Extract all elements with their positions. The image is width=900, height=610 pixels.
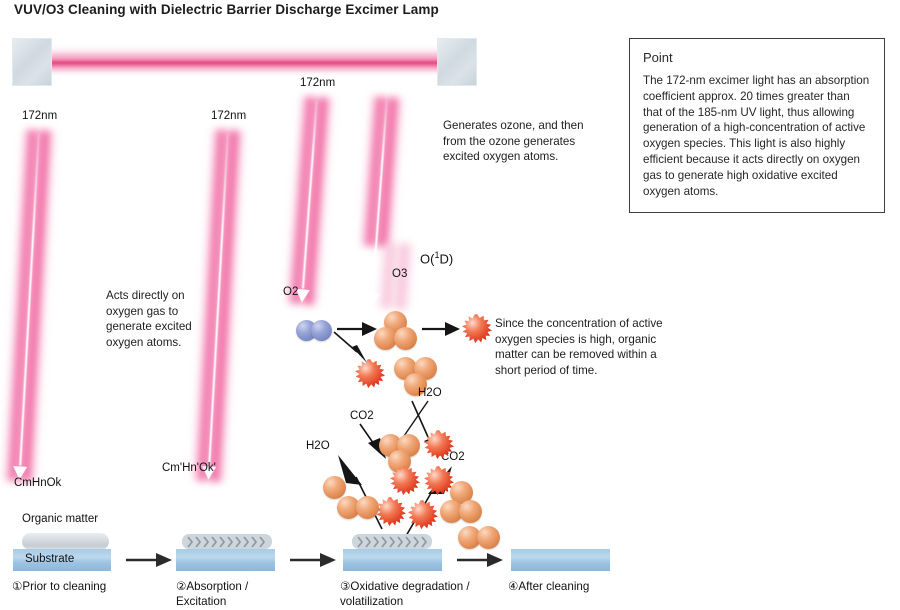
step-arrow-2-to-3 [289,550,337,570]
organic-matter-label: Organic matter [22,513,98,525]
uv-beam-1 [2,129,56,482]
excited-oxygen-star-1 [462,314,492,344]
oxygen-atom-e3 [459,500,482,523]
lamp-tube [30,46,450,76]
note-high-concentration: Since the concentration of active oxygen… [495,316,695,378]
oxygen-atom-d3 [356,496,379,519]
step-label-4: ④After cleaning [508,580,589,595]
lamp-endcap-left [12,38,52,86]
substrate-block-4 [511,549,610,571]
step-arrow-3-to-4 [456,550,504,570]
o2-atom-b [311,320,332,341]
beam-label-3: 172nm [300,77,335,89]
beam-core [372,101,388,293]
species-label-h2o-upper: H2O [418,387,442,399]
oxygen-atom-d1 [323,476,346,499]
formula-mid-product: Cm'Hn'Ok' [162,462,216,474]
oxygen-atom-c3 [388,450,411,473]
formula-left-product: CmHnOk [14,477,61,489]
species-label-co2-top: CO2 [350,410,374,422]
arrow-o3-to-o1d [421,318,461,340]
beam-label-1: 172nm [22,110,57,122]
point-body: The 172-nm excimer light has an absorpti… [643,73,871,199]
lamp-endcap-right [437,38,477,86]
substrate-label-1: Substrate [25,553,74,565]
page-title: VUV/O3 Cleaning with Dielectric Barrier … [14,2,439,17]
species-label-h2o-left: H2O [306,440,330,452]
substrate-block-2 [176,549,275,571]
species-label-o3: O3 [392,268,407,280]
o1d-prefix: O( [420,251,434,266]
degrading-organic-layer-3 [352,531,432,550]
oxygen-atom-f2 [477,526,500,549]
species-label-o2: O2 [283,286,298,298]
step-label-1: ①Prior to cleaning [12,580,106,595]
species-label-o1d: O(1D) [420,250,453,266]
step-label-2: ②Absorption / Excitation [176,580,248,609]
point-box: Point The 172-nm excimer light has an ab… [629,38,885,213]
note-acts-directly: Acts directly on oxygen gas to generate … [106,288,226,350]
o1d-suffix: D) [439,251,453,266]
step-label-3: ③Oxidative degradation / volatilization [340,580,470,609]
adsorbed-organic-layer-2 [182,531,272,550]
organic-matter-layer-1 [22,533,109,550]
beam-arrow-tip [365,293,380,307]
beam-label-2: 172nm [211,110,246,122]
o3-atom-right [394,327,417,350]
uv-beam-3 [285,96,334,306]
note-generates-ozone: Generates ozone, and then from the ozone… [443,118,633,165]
point-heading: Point [643,50,871,65]
step-arrow-1-to-2 [125,550,173,570]
substrate-block-3 [343,549,442,571]
